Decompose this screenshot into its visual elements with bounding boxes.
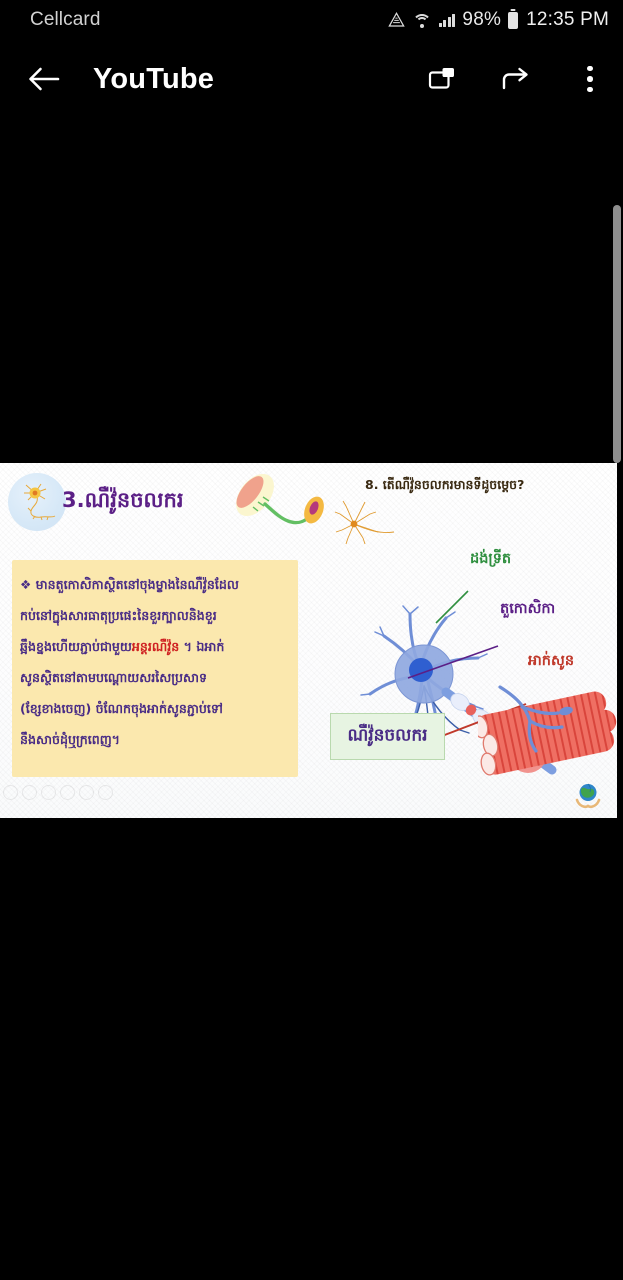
app-bar: YouTube [0,40,623,118]
text-line-main: កប់នៅក្នុងសារធាតុប្រផេះនៃខួរក្បាលនិងខួរ [20,608,217,623]
text-line: (ខ្សែខាងចេញ) ចំណែកចុងអាក់សូនភ្ជាប់ទៅ [20,693,288,724]
page-title: YouTube [93,63,214,96]
label-axon: អាក់សូន [528,652,574,673]
battery-percent-label: 98% [462,9,501,31]
wifi-icon [413,13,432,28]
data-saver-icon [387,11,406,29]
battery-icon [508,12,518,29]
share-icon [501,66,531,92]
app-bar-actions [419,40,613,118]
slide-term-box: ណឺវ៉ូនចលករ [330,713,445,760]
status-bar: Cellcard 98% 12:35 PM [0,0,623,40]
picture-in-picture-icon [428,66,456,92]
globe-in-hands-icon [573,780,603,810]
signal-bars-icon [439,13,456,27]
text-line: នឹងសាច់ដុំឬក្រពេញ។ [20,724,288,755]
slide-term-label: ណឺវ៉ូនចលករ [347,724,427,749]
watermark-circle-icon [60,785,75,800]
overflow-menu-icon [587,66,593,93]
picture-in-picture-button[interactable] [419,56,465,102]
watermark-circle-icon [41,785,56,800]
slide-title: 3.ណឺវ៉ូនចលករ [62,487,184,518]
text-line-main: នឹងសាច់ដុំឬក្រពេញ។ [20,732,120,747]
slide-watermark-icons [3,785,113,800]
lesson-text-box: ❖ មានតួកោសិកាស្ថិតនៅចុងម្ខាងនៃណឺវ៉ូនដែល … [12,560,298,777]
overflow-menu-button[interactable] [567,56,613,102]
text-line: ឆ្អឹងខ្នងហើយភ្ជាប់ជាមួយអន្តរណឺវ៉ូន ។ ឯអា… [20,631,288,662]
watermark-circle-icon [79,785,94,800]
text-highlight: អន្តរណឺវ៉ូន [132,639,179,654]
text-line: សូនស្ថិតនៅតាមបណ្ដោយសរសៃប្រសាទ [20,662,288,693]
label-cell-body: តួកោសិកា [500,600,555,621]
text-line-main: ❖ មានតួកោសិកាស្ថិតនៅចុងម្ខាងនៃណឺវ៉ូនដែល [20,577,239,592]
carrier-label: Cellcard [30,9,101,31]
text-line-main: សូនស្ថិតនៅតាមបណ្ដោយសរសៃប្រសាទ [20,670,207,685]
text-line-main: (ខ្សែខាងចេញ) ចំណែកចុងអាក់សូនភ្ជាប់ទៅ [20,701,223,716]
neuron-thumbnail-icon [8,473,66,531]
vertical-scrollbar[interactable] [613,205,621,463]
text-line: កប់នៅក្នុងសារធាតុប្រផេះនៃខួរក្បាលនិងខួរ [20,600,288,631]
video-player[interactable]: 3.ណឺវ៉ូនចលករ 8. តើណឺវ៉ូនចលករមានទីដូចម្តេ… [0,463,617,818]
back-button[interactable] [16,51,72,107]
muscle-fiber-illustration [478,681,617,781]
clock-label: 12:35 PM [526,9,609,31]
text-line-tail: ។ ឯអាក់ [179,639,224,654]
phone-screen: Cellcard 98% 12:35 PM [0,0,623,1280]
label-dendrite: ដង់ទ្រីត [470,550,511,571]
watermark-circle-icon [3,785,18,800]
lesson-slide: 3.ណឺវ៉ូនចលករ 8. តើណឺវ៉ូនចលករមានទីដូចម្តេ… [0,463,617,818]
text-line: ❖ មានតួកោសិកាស្ថិតនៅចុងម្ខាងនៃណឺវ៉ូនដែល [20,569,288,600]
share-button[interactable] [493,56,539,102]
watermark-circle-icon [22,785,37,800]
status-icons: 98% 12:35 PM [387,0,609,40]
watermark-circle-icon [98,785,113,800]
back-arrow-icon [27,65,61,93]
text-line-main: ឆ្អឹងខ្នងហើយភ្ជាប់ជាមួយ [20,639,132,654]
